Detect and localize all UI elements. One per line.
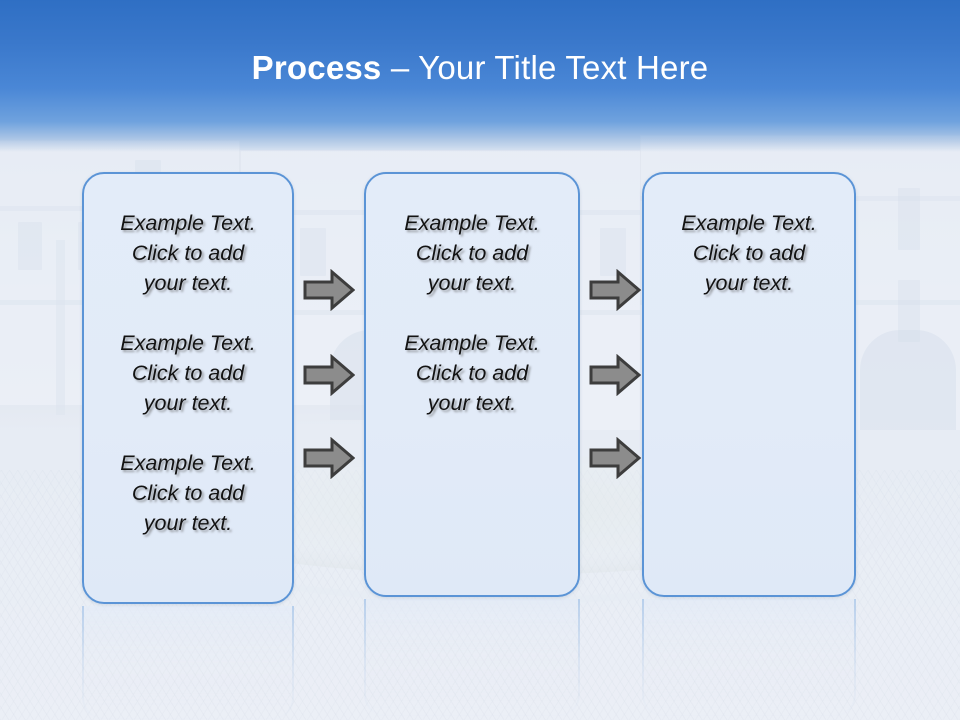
process-box-1[interactable]: Example Text. Click to add your text.Exa… (82, 172, 294, 604)
right-arrow-icon (303, 354, 355, 396)
right-arrow-icon (589, 354, 641, 396)
process-box-3-reflection (642, 599, 856, 717)
placeholder-text[interactable]: Example Text. Click to add your text. (660, 208, 838, 298)
process-box-3-body: Example Text. Click to add your text. (644, 174, 854, 298)
right-arrow-icon (303, 437, 355, 479)
placeholder-text[interactable]: Example Text. Click to add your text. (100, 208, 276, 298)
page-title: Process – Your Title Text Here (0, 48, 960, 88)
right-arrow-icon (589, 437, 641, 479)
right-arrow-icon (589, 269, 641, 311)
placeholder-text[interactable]: Example Text. Click to add your text. (382, 328, 562, 418)
process-box-2-reflection (364, 599, 580, 717)
placeholder-text[interactable]: Example Text. Click to add your text. (100, 328, 276, 418)
page-title-light: – Your Title Text Here (381, 49, 708, 86)
slide-canvas: Process – Your Title Text Here Example T… (0, 0, 960, 720)
process-box-1-body: Example Text. Click to add your text.Exa… (84, 174, 292, 538)
process-box-3[interactable]: Example Text. Click to add your text. (642, 172, 856, 597)
page-title-strong: Process (252, 49, 382, 86)
process-box-2[interactable]: Example Text. Click to add your text.Exa… (364, 172, 580, 597)
placeholder-text[interactable]: Example Text. Click to add your text. (100, 448, 276, 538)
placeholder-text[interactable]: Example Text. Click to add your text. (382, 208, 562, 298)
right-arrow-icon (303, 269, 355, 311)
process-box-1-reflection (82, 606, 294, 720)
process-box-2-body: Example Text. Click to add your text.Exa… (366, 174, 578, 418)
